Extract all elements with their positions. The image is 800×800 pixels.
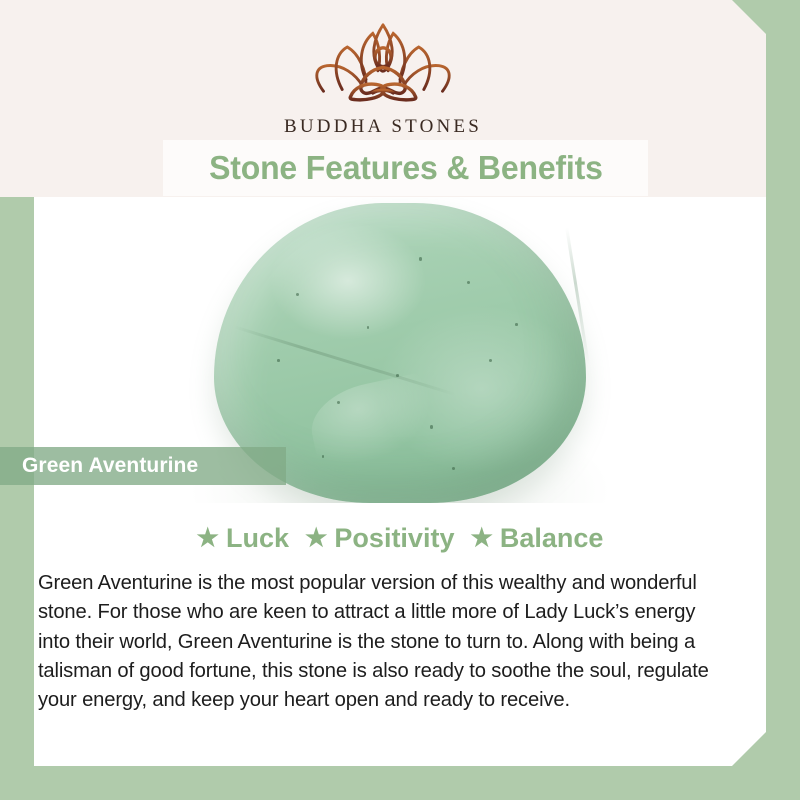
stone-speck (396, 374, 399, 377)
lotus-meditation-icon (298, 18, 468, 110)
stone-speck (277, 359, 280, 362)
brand-logo: BUDDHA STONES (0, 18, 766, 138)
corner-accent-top-right (732, 0, 766, 34)
stone-speck (367, 326, 370, 329)
description-paragraph: Green Aventurine is the most popular ver… (34, 568, 729, 715)
star-icon: ★ (470, 526, 492, 551)
corner-accent-bottom-right (732, 732, 766, 766)
corner-accent-bottom-left (0, 732, 34, 766)
stone-speck (467, 281, 470, 284)
stone-caption-bar: Green Aventurine (0, 447, 286, 485)
stone-caption-label: Green Aventurine (22, 454, 198, 478)
title-banner: Stone Features & Benefits (163, 140, 648, 196)
stone-speck (515, 323, 518, 326)
feature-label: Positivity (334, 523, 454, 554)
brand-name: BUDDHA STONES (284, 116, 482, 138)
feature-item-balance: ★ Balance (470, 523, 603, 554)
feature-label: Balance (500, 523, 604, 554)
frame-bottom-edge (0, 766, 800, 800)
star-icon: ★ (305, 526, 327, 551)
feature-item-positivity: ★ Positivity (305, 523, 454, 554)
stone-speck (296, 293, 299, 296)
page-title: Stone Features & Benefits (209, 149, 603, 187)
feature-label: Luck (226, 523, 289, 554)
star-icon: ★ (197, 526, 219, 551)
corner-accent-left (0, 197, 34, 231)
stone-facet-edge (565, 228, 590, 365)
feature-list: ★ Luck ★ Positivity ★ Balance (34, 523, 766, 554)
stone-speck (452, 467, 455, 470)
content-panel: ★ Luck ★ Positivity ★ Balance Green Aven… (34, 503, 766, 766)
feature-item-luck: ★ Luck (197, 523, 289, 554)
stone-speck (419, 257, 423, 261)
infographic-page: BUDDHA STONES Stone Features & Benefits (0, 0, 800, 800)
stone-speck (337, 401, 340, 404)
stone-highlight (304, 371, 444, 474)
frame-right-edge (766, 0, 800, 800)
stone-speck (489, 359, 492, 362)
stone-speck (430, 425, 434, 429)
